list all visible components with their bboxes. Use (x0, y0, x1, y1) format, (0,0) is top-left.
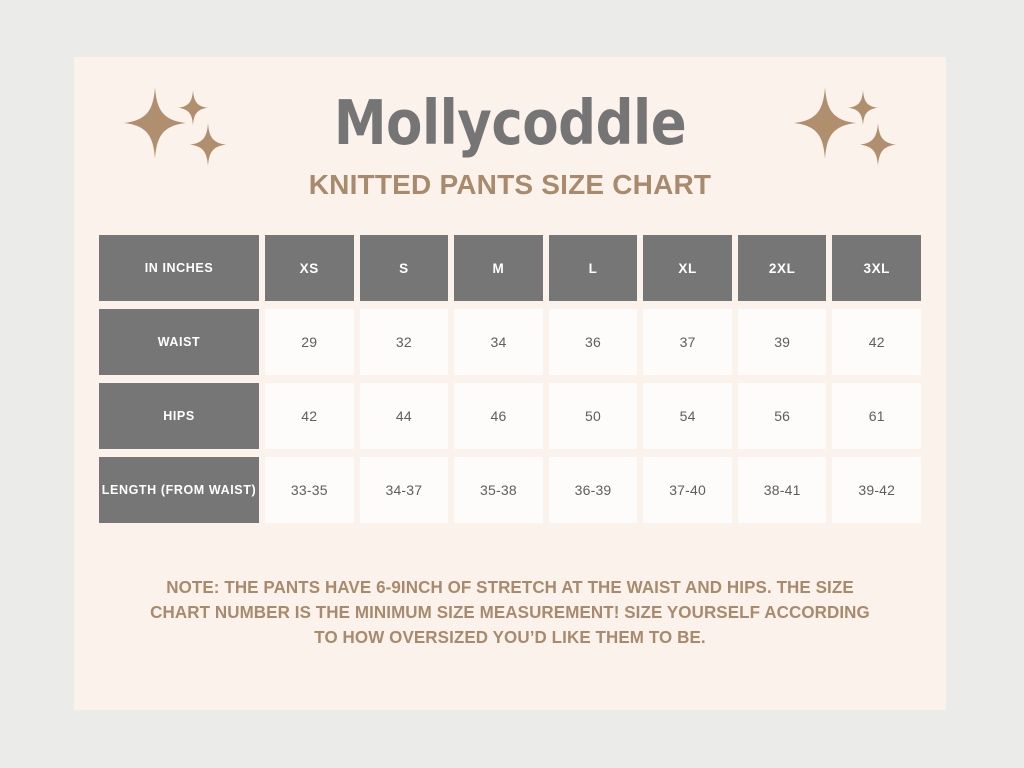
cell-length-s: 34-37 (360, 457, 449, 523)
cell-waist-xl: 37 (643, 309, 732, 375)
cell-waist-m: 34 (454, 309, 543, 375)
size-chart-note: NOTE: THE PANTS HAVE 6-9INCH OF STRETCH … (143, 575, 876, 650)
column-header-units: IN INCHES (99, 235, 259, 301)
cell-length-xl: 37-40 (643, 457, 732, 523)
cell-hips-m: 46 (454, 383, 543, 449)
cell-hips-l: 50 (549, 383, 638, 449)
cell-waist-3xl: 42 (832, 309, 921, 375)
sparkle-small-top-icon (848, 90, 878, 126)
cell-waist-2xl: 39 (738, 309, 827, 375)
cell-hips-s: 44 (360, 383, 449, 449)
column-header-m: M (454, 235, 543, 301)
cell-length-2xl: 38-41 (738, 457, 827, 523)
column-header-l: L (549, 235, 638, 301)
sparkle-small-bottom-icon (860, 123, 896, 166)
cell-hips-2xl: 56 (738, 383, 827, 449)
card-header: Mollycoddle KNITTED PANTS SIZE CHART (74, 57, 946, 207)
cell-hips-3xl: 61 (832, 383, 921, 449)
table-header-row: IN INCHES XS S M L XL 2XL 3XL (99, 235, 921, 301)
table-row: HIPS 42 44 46 50 54 56 61 (99, 383, 921, 449)
cell-waist-s: 32 (360, 309, 449, 375)
size-chart-card: Mollycoddle KNITTED PANTS SIZE CHART IN … (74, 57, 946, 710)
chart-subtitle: KNITTED PANTS SIZE CHART (74, 171, 946, 199)
row-label-hips: HIPS (99, 383, 259, 449)
table-row: WAIST 29 32 34 36 37 39 42 (99, 309, 921, 375)
table-row: LENGTH (FROM WAIST) 33-35 34-37 35-38 36… (99, 457, 921, 523)
column-header-2xl: 2XL (738, 235, 827, 301)
cell-waist-xs: 29 (265, 309, 354, 375)
size-chart-table: IN INCHES XS S M L XL 2XL 3XL WAIST 29 3… (99, 235, 921, 523)
row-label-waist: WAIST (99, 309, 259, 375)
sparkle-large-icon (794, 87, 856, 159)
column-header-xl: XL (643, 235, 732, 301)
column-header-3xl: 3XL (832, 235, 921, 301)
cell-waist-l: 36 (549, 309, 638, 375)
cell-hips-xl: 54 (643, 383, 732, 449)
row-label-length: LENGTH (FROM WAIST) (99, 457, 259, 523)
column-header-s: S (360, 235, 449, 301)
page-background: Mollycoddle KNITTED PANTS SIZE CHART IN … (0, 0, 1024, 768)
cell-length-l: 36-39 (549, 457, 638, 523)
sparkle-cluster-right (780, 79, 910, 171)
cell-hips-xs: 42 (265, 383, 354, 449)
cell-length-xs: 33-35 (265, 457, 354, 523)
cell-length-m: 35-38 (454, 457, 543, 523)
cell-length-3xl: 39-42 (832, 457, 921, 523)
column-header-xs: XS (265, 235, 354, 301)
